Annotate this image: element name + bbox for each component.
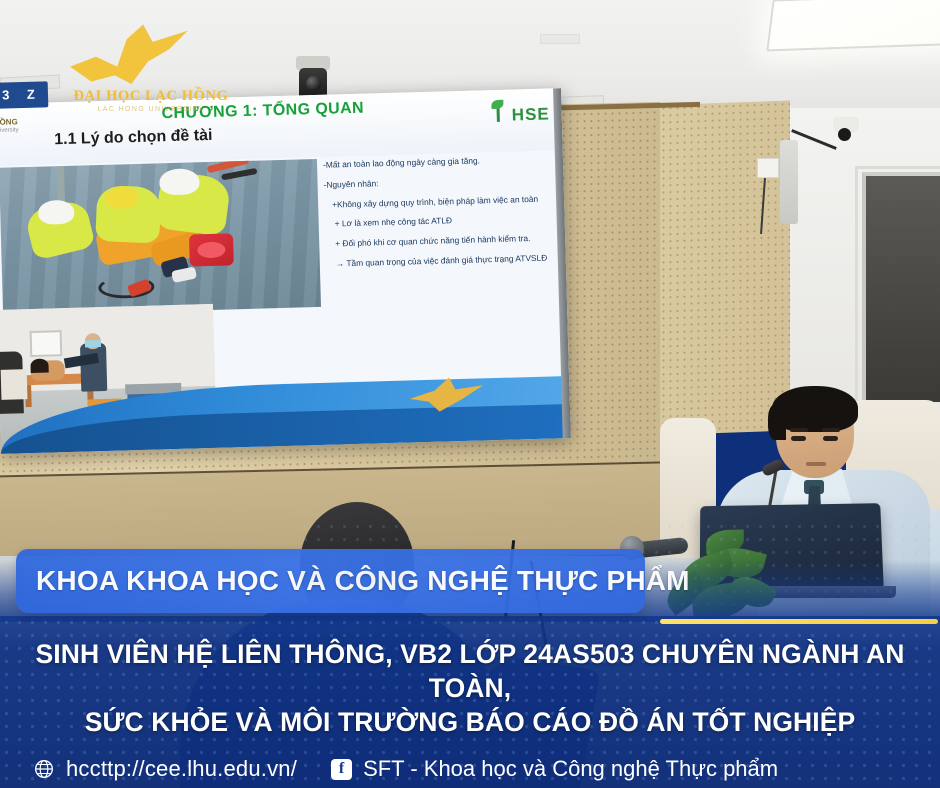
slide-bullet: +Không xây dựng quy trình, biện pháp làm… [324, 194, 554, 209]
headline-line-1: SINH VIÊN HỆ LIÊN THÔNG, VB2 LỚP 24AS503… [0, 638, 940, 706]
screen-corner-chip-label: 3 Z [0, 81, 48, 108]
presenter-eye [791, 436, 806, 441]
wall-switch-plate [757, 158, 779, 178]
hse-logo-text: HSE [512, 104, 551, 125]
university-watermark: ĐẠI HỌC LẠC HỒNG LAC HONG UNIVERSITY [56, 14, 246, 118]
footer-bar: hccttp://cee.lhu.edu.vn/ f SFT - Khoa họ… [0, 750, 940, 788]
facebook-icon[interactable]: f [331, 759, 352, 780]
slide-logo-left: C HỒNG [0, 117, 18, 127]
phoenix-bird-icon [70, 22, 188, 84]
presentation-screen: C HỒNG ha University CHƯƠNG 1: TỔNG QUAN… [0, 88, 571, 454]
slide-bullet: -Nguyên nhân: [323, 174, 553, 189]
slide-bullet: -Mất an toàn lao động ngày càng gia tăng… [323, 154, 553, 169]
presenter-eyebrow [790, 428, 808, 432]
presenter-hair-side [768, 404, 786, 440]
slide-section-title: 1.1 Lý do chọn đề tài [54, 127, 213, 149]
ceiling-light-panel [766, 0, 940, 51]
ceiling-vent [540, 34, 580, 44]
slide-bullet: → Tầm quan trọng của việc đánh giá thực … [326, 253, 556, 268]
photo-person-hair [30, 359, 48, 373]
slide-photo-workers [0, 159, 321, 316]
security-camera-lens [838, 128, 851, 141]
photo-face-mask [85, 340, 101, 347]
globe-icon [34, 759, 54, 779]
facebook-glyph: f [339, 760, 344, 778]
headline-line-2: SỨC KHỎE VÀ MÔI TRƯỜNG BÁO CÁO ĐỒ ÁN TỐT… [0, 706, 940, 740]
yellow-accent-rule [660, 619, 938, 624]
hse-leaf-icon [491, 100, 503, 109]
university-name-english: LAC HONG UNIVERSITY [56, 106, 246, 113]
headline: SINH VIÊN HỆ LIÊN THÔNG, VB2 LỚP 24AS503… [0, 638, 940, 740]
slide-bullet: + Đối phó khi cơ quan chức năng tiến hàn… [325, 234, 555, 249]
slide-logo-left-sub: ha University [0, 127, 19, 134]
photo-standing-person [80, 343, 107, 392]
camera-lens [306, 76, 321, 91]
photo-foreground-shirt [1, 369, 28, 400]
slide-bullet: + Lơ là xem nhẹ công tác ATLĐ [325, 214, 555, 229]
faculty-banner: KHOA KHOA HỌC VÀ CÔNG NGHỆ THỰC PHẨM [16, 549, 645, 613]
photo-hardhat [106, 186, 139, 209]
window-blind [862, 172, 940, 402]
presenter-mouth [806, 462, 826, 466]
website-link[interactable]: hccttp://cee.lhu.edu.vn/ [66, 756, 297, 782]
photo-hardhat [38, 200, 75, 225]
wall-speaker [780, 140, 798, 224]
presenter-eyebrow [822, 428, 840, 432]
screen-corner-chip: 3 Z [0, 81, 48, 108]
announcement-graphic: C HỒNG ha University CHƯƠNG 1: TỔNG QUAN… [0, 0, 940, 788]
photo-room-window [30, 330, 63, 357]
photo-hardhat [159, 168, 200, 195]
presenter-eye [823, 436, 838, 441]
faculty-banner-label: KHOA KHOA HỌC VÀ CÔNG NGHỆ THỰC PHẨM [16, 565, 690, 597]
slide-body-text: -Mất an toàn lao động ngày càng gia tăng… [323, 154, 556, 279]
facebook-page-link[interactable]: SFT - Khoa học và Công nghệ Thực phẩm [363, 756, 778, 782]
university-name: ĐẠI HỌC LẠC HỒNG [56, 88, 246, 105]
